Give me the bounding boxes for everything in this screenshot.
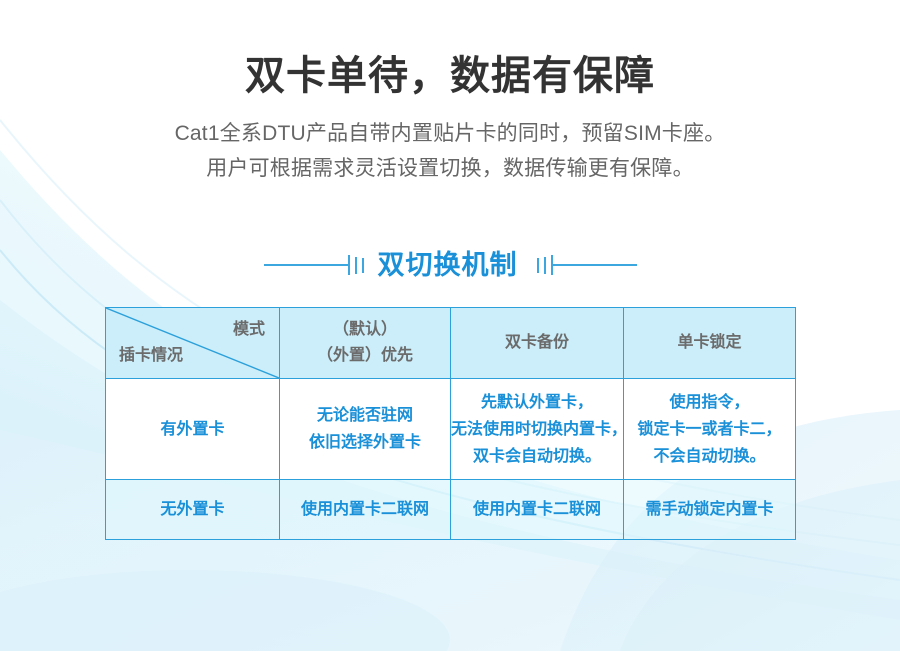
cell-line: 不会自动切换。 [624,443,795,470]
cell-has-external-single-lock: 使用指令， 锁定卡一或者卡二， 不会自动切换。 [624,379,796,480]
cell-no-external-single-lock: 需手动锁定内置卡 [624,480,796,540]
section-divider: 双切换机制 [0,243,900,287]
divider-tick-short-right-icon [537,258,539,273]
table-row: 无外置卡 使用内置卡二联网 使用内置卡二联网 需手动锁定内置卡 [106,480,796,540]
table-corner-cell: 模式 插卡情况 [106,308,280,379]
header-line: 双卡备份 [451,330,623,356]
cell-line: 需手动锁定内置卡 [624,497,795,523]
divider-tick-tall-left-icon [348,255,350,275]
header-line: （默认） [280,317,450,343]
cell-has-external-dual-backup: 先默认外置卡， 无法使用时切换内置卡， 双卡会自动切换。 [451,379,624,480]
section-title: 双切换机制 [378,252,518,279]
page-title: 双卡单待，数据有保障 [0,0,900,99]
corner-mode-label: 模式 [233,317,265,343]
header-line: 单卡锁定 [624,330,795,356]
corner-card-status-label: 插卡情况 [119,343,183,369]
divider-tick-mid-right-icon [544,257,546,274]
cell-line: 锁定卡一或者卡二， [624,416,795,443]
cell-line: 无法使用时切换内置卡， [451,416,623,443]
divider-right-ornament [532,255,637,275]
subtitle-line-2: 用户可根据需求灵活设置切换，数据传输更有保障。 [0,151,900,186]
page-root: 双卡单待，数据有保障 Cat1全系DTU产品自带内置贴片卡的同时，预留SIM卡座… [0,0,900,651]
table-header-cell-default-external: （默认） （外置）优先 [280,308,451,379]
cell-line: 先默认外置卡， [451,389,623,416]
dual-switch-table: 模式 插卡情况 （默认） （外置）优先 双卡备份 单卡锁定 有外置卡 [105,307,796,540]
heading-block: 双卡单待，数据有保障 Cat1全系DTU产品自带内置贴片卡的同时，预留SIM卡座… [0,0,900,186]
table-header-row: 模式 插卡情况 （默认） （外置）优先 双卡备份 单卡锁定 [106,308,796,379]
cell-line: 使用内置卡二联网 [280,497,450,523]
subtitle-line-1: Cat1全系DTU产品自带内置贴片卡的同时，预留SIM卡座。 [0,116,900,151]
divider-rule-left-icon [264,264,348,266]
cell-has-external-default: 无论能否驻网 依旧选择外置卡 [280,379,451,480]
subtitle-block: Cat1全系DTU产品自带内置贴片卡的同时，预留SIM卡座。 用户可根据需求灵活… [0,116,900,186]
header-line: （外置）优先 [280,343,450,369]
table-header-cell-dual-backup: 双卡备份 [451,308,624,379]
table-header-cell-single-lock: 单卡锁定 [624,308,796,379]
cell-line: 依旧选择外置卡 [280,429,450,456]
table-row: 有外置卡 无论能否驻网 依旧选择外置卡 先默认外置卡， 无法使用时切换内置卡， … [106,379,796,480]
divider-left-ornament [264,255,364,275]
cell-line: 双卡会自动切换。 [451,443,623,470]
divider-tick-mid-left-icon [355,257,357,274]
row-label-no-external-card: 无外置卡 [106,480,280,540]
row-label-has-external-card: 有外置卡 [106,379,280,480]
cell-line: 使用指令， [624,389,795,416]
divider-rule-right-icon [553,264,637,266]
cell-line: 无论能否驻网 [280,402,450,429]
cell-no-external-default: 使用内置卡二联网 [280,480,451,540]
divider-tick-short-left-icon [362,258,364,273]
cell-line: 使用内置卡二联网 [451,497,623,523]
dual-switch-table-wrap: 模式 插卡情况 （默认） （外置）优先 双卡备份 单卡锁定 有外置卡 [105,307,795,540]
cell-no-external-dual-backup: 使用内置卡二联网 [451,480,624,540]
